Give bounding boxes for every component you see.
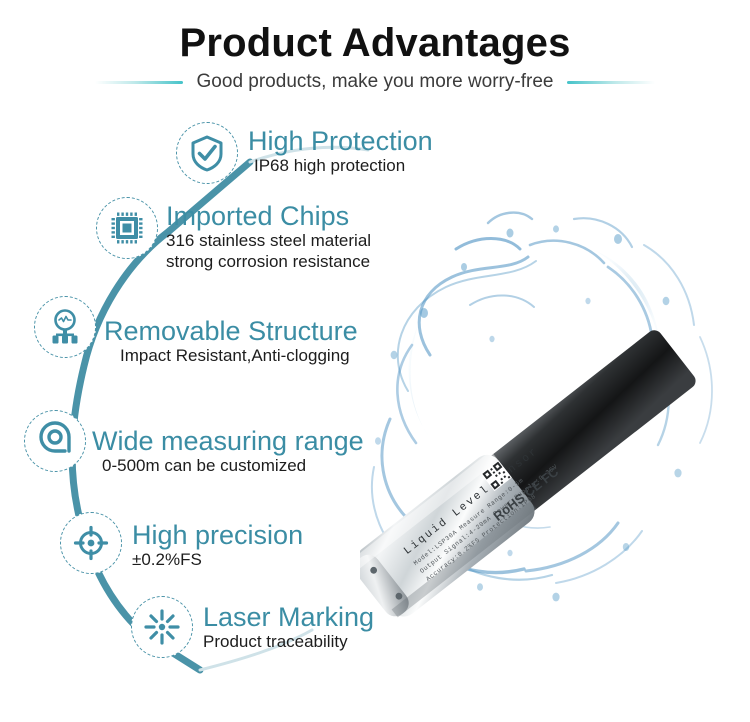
decorative-rule-right-icon [567,81,655,84]
feature-wide-measuring-range[interactable]: Wide measuring range 0-500m can be custo… [24,410,364,477]
feature-heading: High precision [132,520,303,550]
feature-imported-chips[interactable]: Imported Chips 316 stainless steel mater… [96,197,371,273]
feature-laser-marking[interactable]: Laser Marking Product traceability [131,596,374,658]
crosshair-target-icon [60,512,122,574]
header: Product Advantages Good products, make y… [0,0,750,93]
feature-heading: Imported Chips [166,201,371,231]
feature-desc-line: IP68 high protection [254,156,433,177]
feature-text: High precision ±0.2%FS [132,512,303,571]
feature-text: Wide measuring range 0-500m can be custo… [92,410,364,477]
feature-removable-structure[interactable]: Removable Structure Impact Resistant,Ant… [34,296,358,367]
feature-desc-line: 316 stainless steel material [166,231,371,252]
product-photo: Liquid Level Sensor Model:LSP30A Measure… [360,205,750,635]
feature-text: Laser Marking Product traceability [203,596,374,653]
page-title: Product Advantages [0,0,750,64]
feature-heading: Laser Marking [203,602,374,632]
feature-heading: High Protection [248,126,433,156]
feature-desc-line: Product traceability [203,632,374,653]
feature-high-protection[interactable]: High Protection IP68 high protection [176,122,433,184]
feature-heading: Wide measuring range [92,426,364,456]
gauge-mount-icon [34,296,96,358]
product-advantages-infographic: Product Advantages Good products, make y… [0,0,750,722]
shield-check-icon [176,122,238,184]
feature-heading: Removable Structure [104,316,358,346]
feature-high-precision[interactable]: High precision ±0.2%FS [60,512,303,574]
microchip-icon [96,197,158,259]
feature-desc-line: 0-500m can be customized [102,456,364,477]
feature-text: Imported Chips 316 stainless steel mater… [166,197,371,273]
feature-desc-line: ±0.2%FS [132,550,303,571]
feature-desc-line: strong corrosion resistance [166,252,371,273]
page-subtitle: Good products, make you more worry-free [197,71,554,93]
feature-text: High Protection IP68 high protection [248,122,433,177]
measuring-spiral-icon [24,410,86,472]
laser-burst-icon [131,596,193,658]
feature-desc-line: Impact Resistant,Anti-clogging [120,346,358,367]
subtitle-row: Good products, make you more worry-free [0,71,750,93]
sensor-body: Liquid Level Sensor Model:LSP30A Measure… [360,322,702,625]
feature-text: Removable Structure Impact Resistant,Ant… [104,296,358,367]
decorative-rule-left-icon [95,81,183,84]
